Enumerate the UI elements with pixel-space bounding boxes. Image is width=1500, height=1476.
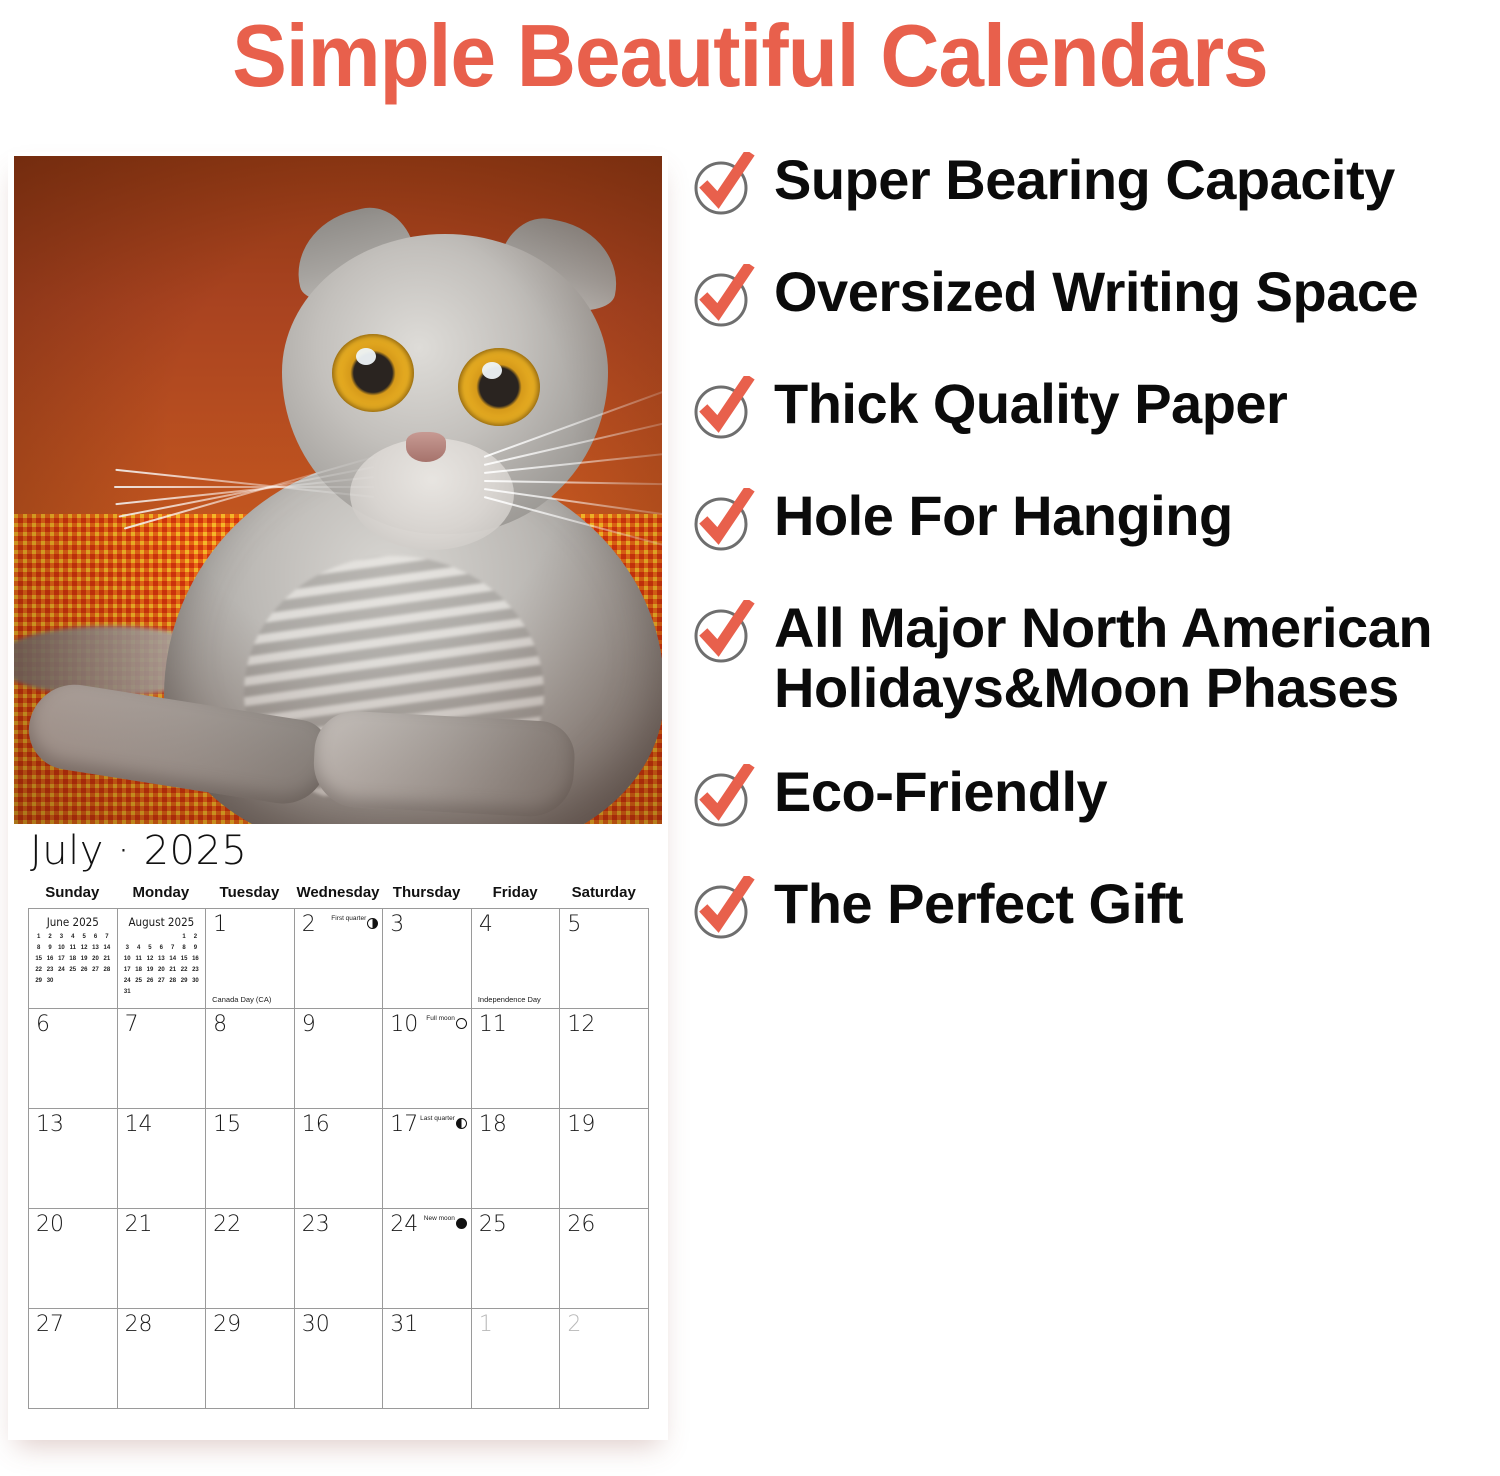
day-number: 30 xyxy=(302,1312,330,1338)
mini-calendar-day: 27 xyxy=(156,978,167,985)
day-number: 26 xyxy=(567,1212,595,1238)
day-number: 9 xyxy=(302,1012,316,1038)
month-title: July · 2025 xyxy=(30,828,247,874)
mini-calendar-day xyxy=(90,978,101,985)
mini-calendar-day xyxy=(78,978,89,985)
feature-label: Eco-Friendly xyxy=(774,762,1107,822)
feature-label: Thick Quality Paper xyxy=(774,374,1287,434)
moon-glyph xyxy=(367,918,378,929)
moon-phase-new-icon: New moon xyxy=(424,1213,467,1229)
calendar-day-cell[interactable]: 1Canada Day (CA) xyxy=(206,909,295,1009)
mini-calendar-day xyxy=(156,934,167,941)
day-of-week-label: Wednesday xyxy=(294,884,383,901)
day-number: 1 xyxy=(213,912,227,938)
mini-calendar-day: 20 xyxy=(156,967,167,974)
day-number: 27 xyxy=(36,1312,64,1338)
check-circle-icon xyxy=(690,764,756,830)
check-circle-icon xyxy=(690,876,756,942)
mini-calendar-grid: 1234567891011121314151617181920212223242… xyxy=(33,934,113,985)
feature-label-line: Super Bearing Capacity xyxy=(774,148,1395,211)
day-number: 2 xyxy=(567,1312,581,1338)
mini-calendar-title: August 2025 xyxy=(122,915,202,929)
mini-calendar-day: 13 xyxy=(90,945,101,952)
mini-calendar-day xyxy=(167,934,178,941)
feature-item: Eco-Friendly xyxy=(690,762,1490,830)
mini-calendar-day: 5 xyxy=(144,945,155,952)
feature-item: The Perfect Gift xyxy=(690,874,1490,942)
day-of-week-label: Monday xyxy=(117,884,206,901)
moon-glyph xyxy=(456,1218,467,1229)
mini-calendar-day: 17 xyxy=(56,956,67,963)
mini-calendar-day: 23 xyxy=(44,967,55,974)
feature-item: Super Bearing Capacity xyxy=(690,150,1490,218)
feature-label-line: All Major North American xyxy=(774,596,1432,659)
day-number: 24 xyxy=(390,1212,418,1238)
mini-calendar-day: 25 xyxy=(133,978,144,985)
mini-calendar-day: 4 xyxy=(133,945,144,952)
day-number: 19 xyxy=(567,1112,595,1138)
mini-calendar-day xyxy=(167,989,178,996)
mini-calendar-day: 25 xyxy=(67,967,78,974)
day-number: 3 xyxy=(390,912,404,938)
calendar-day-cell[interactable]: 27 xyxy=(29,1309,118,1409)
calendar-day-cell[interactable]: 24New moon xyxy=(383,1209,472,1309)
day-number: 21 xyxy=(125,1212,153,1238)
mini-calendar-day xyxy=(144,989,155,996)
mini-calendar-day: 1 xyxy=(178,934,189,941)
mini-calendar-day: 17 xyxy=(122,967,133,974)
day-number: 20 xyxy=(36,1212,64,1238)
calendar-day-cell[interactable]: 2 xyxy=(560,1309,649,1409)
calendar-day-cell[interactable]: 26 xyxy=(560,1209,649,1309)
holiday-label: Independence Day xyxy=(478,995,541,1004)
mini-calendar-day: 16 xyxy=(190,956,201,963)
mini-calendar-day: 15 xyxy=(178,956,189,963)
mini-calendar-day: 4 xyxy=(67,934,78,941)
day-number: 5 xyxy=(567,912,581,938)
day-of-week-label: Sunday xyxy=(28,884,117,901)
mini-calendar-day: 26 xyxy=(78,967,89,974)
mini-calendar-day: 6 xyxy=(156,945,167,952)
mini-calendar-day: 3 xyxy=(122,945,133,952)
check-circle-icon xyxy=(690,600,756,666)
moon-phase-label: Last quarter xyxy=(420,1115,455,1122)
mini-calendar-day: 11 xyxy=(67,945,78,952)
day-of-week-label: Thursday xyxy=(382,884,471,901)
moon-phase-last-icon: Last quarter xyxy=(420,1113,467,1129)
mini-calendar-day: 15 xyxy=(33,956,44,963)
mini-calendar-day: 6 xyxy=(90,934,101,941)
day-number: 31 xyxy=(390,1312,418,1338)
calendar-day-cell[interactable]: 25 xyxy=(472,1209,561,1309)
mini-calendar-day: 11 xyxy=(133,956,144,963)
calendar-day-cell[interactable]: 10Full moon xyxy=(383,1009,472,1109)
moon-phase-label: New moon xyxy=(424,1215,455,1222)
day-number: 12 xyxy=(567,1012,595,1038)
mini-calendar-day: 29 xyxy=(178,978,189,985)
feature-label: All Major North AmericanHolidays&Moon Ph… xyxy=(774,598,1432,718)
mini-calendar-day: 24 xyxy=(56,967,67,974)
day-number: 14 xyxy=(125,1112,153,1138)
mini-calendar-day: 2 xyxy=(190,934,201,941)
calendar-day-cell[interactable]: 1 xyxy=(472,1309,561,1409)
mini-calendar: June 20251234567891011121314151617181920… xyxy=(29,915,117,985)
mini-calendar-day: 9 xyxy=(44,945,55,952)
mini-calendar-day: 28 xyxy=(167,978,178,985)
feature-item: Oversized Writing Space xyxy=(690,262,1490,330)
check-circle-icon xyxy=(690,488,756,554)
day-number: 4 xyxy=(479,912,493,938)
mini-calendar-day: 7 xyxy=(167,945,178,952)
mini-calendar-day xyxy=(56,978,67,985)
mini-calendar-day: 10 xyxy=(122,956,133,963)
day-number: 6 xyxy=(36,1012,50,1038)
calendar-page: July · 2025 SundayMondayTuesdayWednesday… xyxy=(8,152,668,1440)
calendar-day-cell[interactable]: 28 xyxy=(118,1309,207,1409)
mini-calendar-day: 21 xyxy=(167,967,178,974)
feature-label: Hole For Hanging xyxy=(774,486,1233,546)
calendar-day-cell[interactable]: 31 xyxy=(383,1309,472,1409)
calendar-day-cell[interactable]: 12 xyxy=(560,1009,649,1109)
mini-calendar-day: 27 xyxy=(90,967,101,974)
day-of-week-label: Friday xyxy=(471,884,560,901)
mini-calendar-day: 8 xyxy=(178,945,189,952)
day-number: 18 xyxy=(479,1112,507,1138)
day-number: 17 xyxy=(390,1112,418,1138)
check-circle-icon xyxy=(690,152,756,218)
calendar-day-cell[interactable]: June 20251234567891011121314151617181920… xyxy=(29,909,118,1009)
feature-label-line: Oversized Writing Space xyxy=(774,260,1418,323)
calendar-day-cell[interactable]: 3 xyxy=(383,909,472,1009)
mini-calendar-day xyxy=(133,934,144,941)
mini-calendar-day xyxy=(67,978,78,985)
mini-calendar-day: 19 xyxy=(144,967,155,974)
mini-calendar-day: 24 xyxy=(122,978,133,985)
mini-calendar-day: 8 xyxy=(33,945,44,952)
mini-calendar-day: 20 xyxy=(90,956,101,963)
feature-label-line: Thick Quality Paper xyxy=(774,372,1287,435)
moon-glyph xyxy=(456,1018,467,1029)
mini-calendar-day: 13 xyxy=(156,956,167,963)
day-number: 11 xyxy=(479,1012,507,1038)
day-of-week-label: Tuesday xyxy=(205,884,294,901)
day-number: 28 xyxy=(125,1312,153,1338)
mini-calendar-day: 30 xyxy=(44,978,55,985)
mini-calendar-day: 12 xyxy=(144,956,155,963)
calendar-day-cell[interactable]: 13 xyxy=(29,1109,118,1209)
calendar-day-cell[interactable]: 16 xyxy=(295,1109,384,1209)
day-number: 23 xyxy=(302,1212,330,1238)
mini-calendar-day: 23 xyxy=(190,967,201,974)
calendar-day-cell[interactable]: 11 xyxy=(472,1009,561,1109)
day-number: 10 xyxy=(390,1012,418,1038)
mini-calendar-day xyxy=(133,989,144,996)
calendar-day-cell[interactable]: 5 xyxy=(560,909,649,1009)
moon-phase-first-icon: First quarter xyxy=(331,913,378,929)
day-number: 13 xyxy=(36,1112,64,1138)
day-number: 22 xyxy=(213,1212,241,1238)
calendar-day-cell[interactable]: 21 xyxy=(118,1209,207,1309)
mini-calendar-day: 18 xyxy=(67,956,78,963)
feature-label-line: Eco-Friendly xyxy=(774,760,1107,823)
mini-calendar-day: 10 xyxy=(56,945,67,952)
day-number: 8 xyxy=(213,1012,227,1038)
mini-calendar-day: 2 xyxy=(44,934,55,941)
calendar-day-cell[interactable]: 14 xyxy=(118,1109,207,1209)
check-circle-icon xyxy=(690,376,756,442)
mini-calendar-day: 31 xyxy=(122,989,133,996)
mini-calendar-day: 5 xyxy=(78,934,89,941)
calendar-day-cell[interactable]: 29 xyxy=(206,1309,295,1409)
calendar-day-cell[interactable]: 20 xyxy=(29,1209,118,1309)
mini-calendar-day: 29 xyxy=(33,978,44,985)
feature-label: Super Bearing Capacity xyxy=(774,150,1395,210)
mini-calendar-title: June 2025 xyxy=(33,915,113,929)
mini-calendar-day: 14 xyxy=(101,945,112,952)
day-number: 16 xyxy=(302,1112,330,1138)
check-circle-icon xyxy=(690,264,756,330)
product-preview: July · 2025 SundayMondayTuesdayWednesday… xyxy=(8,152,668,1452)
feature-label-line: Holidays&Moon Phases xyxy=(774,658,1432,718)
calendar-day-cell[interactable]: 8 xyxy=(206,1009,295,1109)
day-number: 15 xyxy=(213,1112,241,1138)
mini-calendar-day: 14 xyxy=(167,956,178,963)
mini-calendar-day xyxy=(122,934,133,941)
mini-calendar-day xyxy=(190,989,201,996)
moon-phase-label: First quarter xyxy=(331,915,366,922)
moon-phase-full-icon: Full moon xyxy=(426,1013,467,1029)
mini-calendar-day: 19 xyxy=(78,956,89,963)
moon-glyph xyxy=(456,1118,467,1129)
mini-calendar-day: 12 xyxy=(78,945,89,952)
mini-calendar-grid: 1234567891011121314151617181920212223242… xyxy=(122,934,202,996)
mini-calendar-day xyxy=(101,978,112,985)
mini-calendar-day: 16 xyxy=(44,956,55,963)
calendar-day-cell[interactable]: 30 xyxy=(295,1309,384,1409)
calendar-month: July · 2025 SundayMondayTuesdayWednesday… xyxy=(14,828,662,1428)
calendar-grid: June 20251234567891011121314151617181920… xyxy=(28,908,649,1409)
mini-calendar-day: 21 xyxy=(101,956,112,963)
holiday-label: Canada Day (CA) xyxy=(212,995,271,1004)
mini-calendar-day xyxy=(156,989,167,996)
moon-phase-label: Full moon xyxy=(426,1015,455,1022)
calendar-day-cell[interactable]: 4Independence Day xyxy=(472,909,561,1009)
mini-calendar-day: 18 xyxy=(133,967,144,974)
calendar-day-cell[interactable]: 18 xyxy=(472,1109,561,1209)
calendar-day-cell[interactable]: 7 xyxy=(118,1009,207,1109)
calendar-day-cell[interactable]: 2First quarter xyxy=(295,909,384,1009)
feature-list: Super Bearing CapacityOversized Writing … xyxy=(690,150,1490,986)
day-number: 1 xyxy=(479,1312,493,1338)
feature-label: Oversized Writing Space xyxy=(774,262,1418,322)
mini-calendar-day: 22 xyxy=(33,967,44,974)
feature-item: All Major North AmericanHolidays&Moon Ph… xyxy=(690,598,1490,718)
feature-label-line: Hole For Hanging xyxy=(774,484,1233,547)
day-number: 25 xyxy=(479,1212,507,1238)
feature-item: Hole For Hanging xyxy=(690,486,1490,554)
day-number: 29 xyxy=(213,1312,241,1338)
mini-calendar-day: 3 xyxy=(56,934,67,941)
mini-calendar: August 202512345678910111213141516171819… xyxy=(118,915,206,996)
day-of-week-label: Saturday xyxy=(559,884,648,901)
mini-calendar-day: 22 xyxy=(178,967,189,974)
cat-photo xyxy=(14,156,662,824)
photo-vignette xyxy=(14,156,662,824)
calendar-day-cell[interactable]: 19 xyxy=(560,1109,649,1209)
calendar-day-cell[interactable]: 15 xyxy=(206,1109,295,1209)
mini-calendar-day xyxy=(144,934,155,941)
day-of-week-header: SundayMondayTuesdayWednesdayThursdayFrid… xyxy=(28,884,648,901)
day-number: 7 xyxy=(125,1012,139,1038)
feature-label: The Perfect Gift xyxy=(774,874,1183,934)
mini-calendar-day: 9 xyxy=(190,945,201,952)
calendar-day-cell[interactable]: 23 xyxy=(295,1209,384,1309)
calendar-day-cell[interactable]: 9 xyxy=(295,1009,384,1109)
calendar-day-cell[interactable]: 22 xyxy=(206,1209,295,1309)
calendar-day-cell[interactable]: August 202512345678910111213141516171819… xyxy=(118,909,207,1009)
mini-calendar-day xyxy=(178,989,189,996)
feature-item: Thick Quality Paper xyxy=(690,374,1490,442)
feature-label-line: The Perfect Gift xyxy=(774,872,1183,935)
calendar-day-cell[interactable]: 17Last quarter xyxy=(383,1109,472,1209)
page-title: Simple Beautiful Calendars xyxy=(53,4,1448,108)
mini-calendar-day: 1 xyxy=(33,934,44,941)
day-number: 2 xyxy=(302,912,316,938)
mini-calendar-day: 28 xyxy=(101,967,112,974)
calendar-day-cell[interactable]: 6 xyxy=(29,1009,118,1109)
mini-calendar-day: 7 xyxy=(101,934,112,941)
mini-calendar-day: 30 xyxy=(190,978,201,985)
mini-calendar-day: 26 xyxy=(144,978,155,985)
